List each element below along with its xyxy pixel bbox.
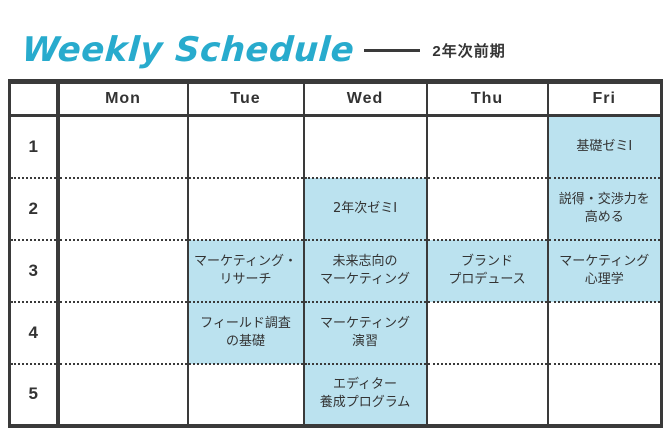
table-header-row: Mon Tue Wed Thu Fri [10, 82, 662, 116]
table-row: 5エディター 養成プログラム [10, 364, 662, 426]
term-subtitle: 2年次前期 [432, 40, 505, 61]
class-name-label: マーケティング・ リサーチ [189, 253, 303, 288]
class-cell-mon-2[interactable] [58, 178, 188, 240]
column-header-tue: Tue [188, 82, 304, 116]
class-cell-wed-4[interactable]: マーケティング 演習 [304, 302, 427, 364]
period-number-cell: 5 [10, 364, 58, 426]
column-header-thu: Thu [427, 82, 548, 116]
class-cell-mon-1[interactable] [58, 116, 188, 178]
class-cell-thu-1[interactable] [427, 116, 548, 178]
class-cell-thu-2[interactable] [427, 178, 548, 240]
class-cell-mon-5[interactable] [58, 364, 188, 426]
column-header-wed: Wed [304, 82, 427, 116]
class-cell-wed-1[interactable] [304, 116, 427, 178]
weekly-schedule-page: Weekly Schedule 2年次前期 Mon Tue Wed Thu Fr… [0, 0, 668, 433]
column-header-mon: Mon [58, 82, 188, 116]
table-row: 1基礎ゼミⅠ [10, 116, 662, 178]
class-name-label: 説得・交渉力を 高める [549, 191, 661, 226]
class-cell-fri-5[interactable] [548, 364, 662, 426]
table-row: 3マーケティング・ リサーチ未来志向の マーケティングブランド プロデュースマー… [10, 240, 662, 302]
period-number-cell: 3 [10, 240, 58, 302]
schedule-table-head: Mon Tue Wed Thu Fri [10, 82, 662, 116]
class-name-label: マーケティング 心理学 [549, 253, 661, 288]
title-rule-divider [364, 49, 420, 52]
period-number-cell: 2 [10, 178, 58, 240]
class-name-label: 2年次ゼミⅠ [305, 200, 426, 218]
class-cell-tue-5[interactable] [188, 364, 304, 426]
class-name-label: マーケティング 演習 [305, 315, 426, 350]
schedule-table-container: Mon Tue Wed Thu Fri 1基礎ゼミⅠ22年次ゼミⅠ説得・交渉力を… [8, 79, 660, 428]
period-number-cell: 4 [10, 302, 58, 364]
class-cell-thu-3[interactable]: ブランド プロデュース [427, 240, 548, 302]
page-header: Weekly Schedule 2年次前期 [0, 26, 668, 74]
class-cell-tue-4[interactable]: フィールド調査 の基礎 [188, 302, 304, 364]
class-name-label: フィールド調査 の基礎 [189, 315, 303, 350]
class-cell-mon-4[interactable] [58, 302, 188, 364]
class-cell-wed-5[interactable]: エディター 養成プログラム [304, 364, 427, 426]
class-name-label: 未来志向の マーケティング [305, 253, 426, 288]
schedule-table-body: 1基礎ゼミⅠ22年次ゼミⅠ説得・交渉力を 高める3マーケティング・ リサーチ未来… [10, 116, 662, 426]
page-title: Weekly Schedule [21, 33, 356, 67]
class-cell-wed-2[interactable]: 2年次ゼミⅠ [304, 178, 427, 240]
column-header-period [10, 82, 58, 116]
class-name-label: エディター 養成プログラム [305, 376, 426, 411]
class-cell-tue-2[interactable] [188, 178, 304, 240]
table-row: 4フィールド調査 の基礎マーケティング 演習 [10, 302, 662, 364]
column-header-fri: Fri [548, 82, 662, 116]
class-cell-fri-4[interactable] [548, 302, 662, 364]
class-cell-thu-5[interactable] [427, 364, 548, 426]
class-cell-mon-3[interactable] [58, 240, 188, 302]
schedule-table: Mon Tue Wed Thu Fri 1基礎ゼミⅠ22年次ゼミⅠ説得・交渉力を… [8, 79, 663, 428]
class-cell-thu-4[interactable] [427, 302, 548, 364]
class-cell-tue-3[interactable]: マーケティング・ リサーチ [188, 240, 304, 302]
class-cell-fri-1[interactable]: 基礎ゼミⅠ [548, 116, 662, 178]
class-cell-fri-3[interactable]: マーケティング 心理学 [548, 240, 662, 302]
class-cell-fri-2[interactable]: 説得・交渉力を 高める [548, 178, 662, 240]
class-name-label: 基礎ゼミⅠ [549, 138, 661, 156]
class-name-label: ブランド プロデュース [428, 253, 547, 288]
table-row: 22年次ゼミⅠ説得・交渉力を 高める [10, 178, 662, 240]
class-cell-tue-1[interactable] [188, 116, 304, 178]
period-number-cell: 1 [10, 116, 58, 178]
class-cell-wed-3[interactable]: 未来志向の マーケティング [304, 240, 427, 302]
